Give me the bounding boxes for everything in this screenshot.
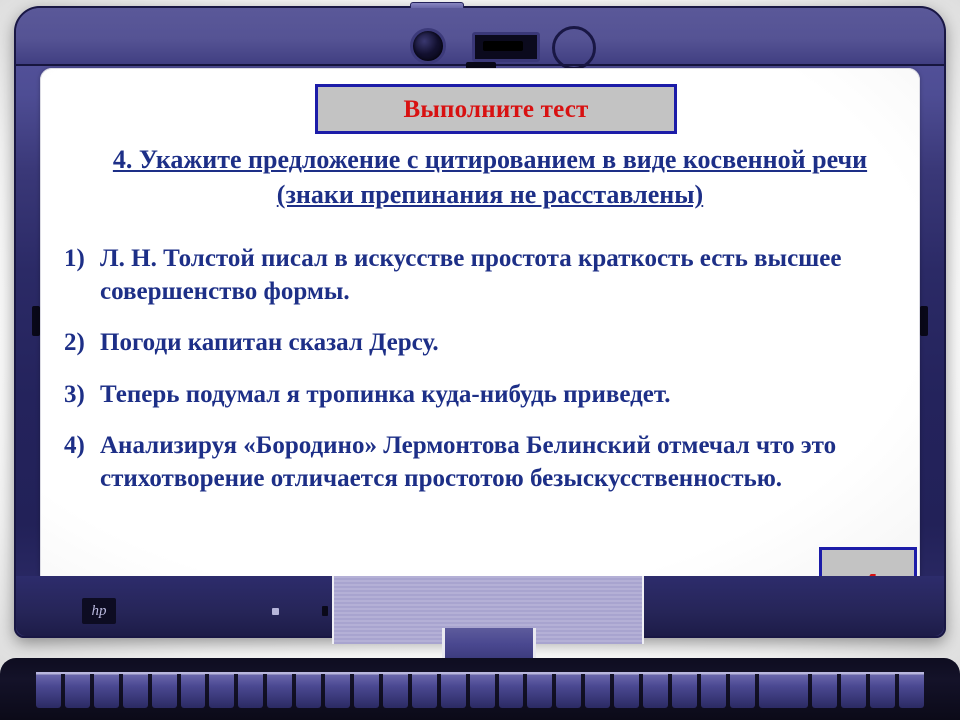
keyboard-key[interactable]: [899, 674, 924, 708]
question-text: 4. Укажите предложение с цитированием в …: [100, 142, 880, 213]
keyboard-key[interactable]: [65, 674, 90, 708]
keyboard-key[interactable]: [470, 674, 495, 708]
keyboard-key[interactable]: [585, 674, 610, 708]
keyboard-key[interactable]: [94, 674, 119, 708]
keyboard-key-wide[interactable]: [759, 674, 809, 708]
keyboard-key[interactable]: [36, 674, 61, 708]
keyboard-key[interactable]: [296, 674, 321, 708]
keyboard-key[interactable]: [527, 674, 552, 708]
power-led-icon: [272, 608, 279, 615]
keyboard-key[interactable]: [556, 674, 581, 708]
side-port: [322, 606, 328, 616]
option-marker-2: 2): [64, 327, 100, 360]
webcam-icon: [410, 28, 446, 64]
option-text-1: Л. Н. Толстой писал в искусстве простота…: [100, 243, 914, 308]
keyboard-key[interactable]: [614, 674, 639, 708]
laptop-screen: Выполните тест 4. Укажите предложение с …: [40, 68, 920, 616]
keyboard-key[interactable]: [354, 674, 379, 708]
slide-title-box: Выполните тест: [315, 84, 677, 134]
option-item-2[interactable]: 2) Погоди капитан сказал Дерсу.: [64, 327, 914, 360]
keyboard-key[interactable]: [383, 674, 408, 708]
option-marker-3: 3): [64, 379, 100, 412]
keyboard-key[interactable]: [238, 674, 263, 708]
laptop-illustration: Выполните тест 4. Укажите предложение с …: [14, 6, 946, 648]
keyboard-key[interactable]: [643, 674, 668, 708]
keyboard-key[interactable]: [499, 674, 524, 708]
laptop-base: [0, 658, 960, 720]
keyboard-key[interactable]: [701, 674, 726, 708]
keyboard-key[interactable]: [812, 674, 837, 708]
keyboard-row[interactable]: [36, 672, 924, 714]
options-list: 1) Л. Н. Толстой писал в искусстве прост…: [64, 243, 914, 514]
option-text-2: Погоди капитан сказал Дерсу.: [100, 327, 914, 360]
bezel-clip-left: [32, 306, 40, 336]
keyboard-key[interactable]: [267, 674, 292, 708]
keyboard-key[interactable]: [181, 674, 206, 708]
option-item-4[interactable]: 4) Анализируя «Бородино» Лермонтова Бели…: [64, 430, 914, 495]
screenshot-root: Выполните тест 4. Укажите предложение с …: [0, 0, 960, 720]
keyboard-key[interactable]: [441, 674, 466, 708]
keyboard-key[interactable]: [672, 674, 697, 708]
bezel-clip-right: [920, 306, 928, 336]
keyboard-key[interactable]: [841, 674, 866, 708]
keyboard-key[interactable]: [730, 674, 755, 708]
ir-sensor-slot-inner: [483, 41, 523, 51]
keyboard-key[interactable]: [412, 674, 437, 708]
slide-title: Выполните тест: [403, 97, 588, 122]
option-text-3: Теперь подумал я тропинка куда-нибудь пр…: [100, 379, 914, 412]
power-button-icon[interactable]: [552, 26, 596, 70]
hp-logo-badge: hp: [82, 598, 116, 624]
option-item-1[interactable]: 1) Л. Н. Толстой писал в искусстве прост…: [64, 243, 914, 308]
presentation-slide: Выполните тест 4. Укажите предложение с …: [40, 68, 920, 616]
keyboard-key[interactable]: [325, 674, 350, 708]
option-marker-1: 1): [64, 243, 100, 276]
keyboard-key[interactable]: [209, 674, 234, 708]
keyboard-key[interactable]: [123, 674, 148, 708]
option-marker-4: 4): [64, 430, 100, 463]
ir-sensor-icon: [472, 32, 540, 62]
option-text-4: Анализируя «Бородино» Лермонтова Белинск…: [100, 430, 914, 495]
keyboard-key[interactable]: [152, 674, 177, 708]
keyboard-key[interactable]: [870, 674, 895, 708]
option-item-3[interactable]: 3) Теперь подумал я тропинка куда-нибудь…: [64, 379, 914, 412]
